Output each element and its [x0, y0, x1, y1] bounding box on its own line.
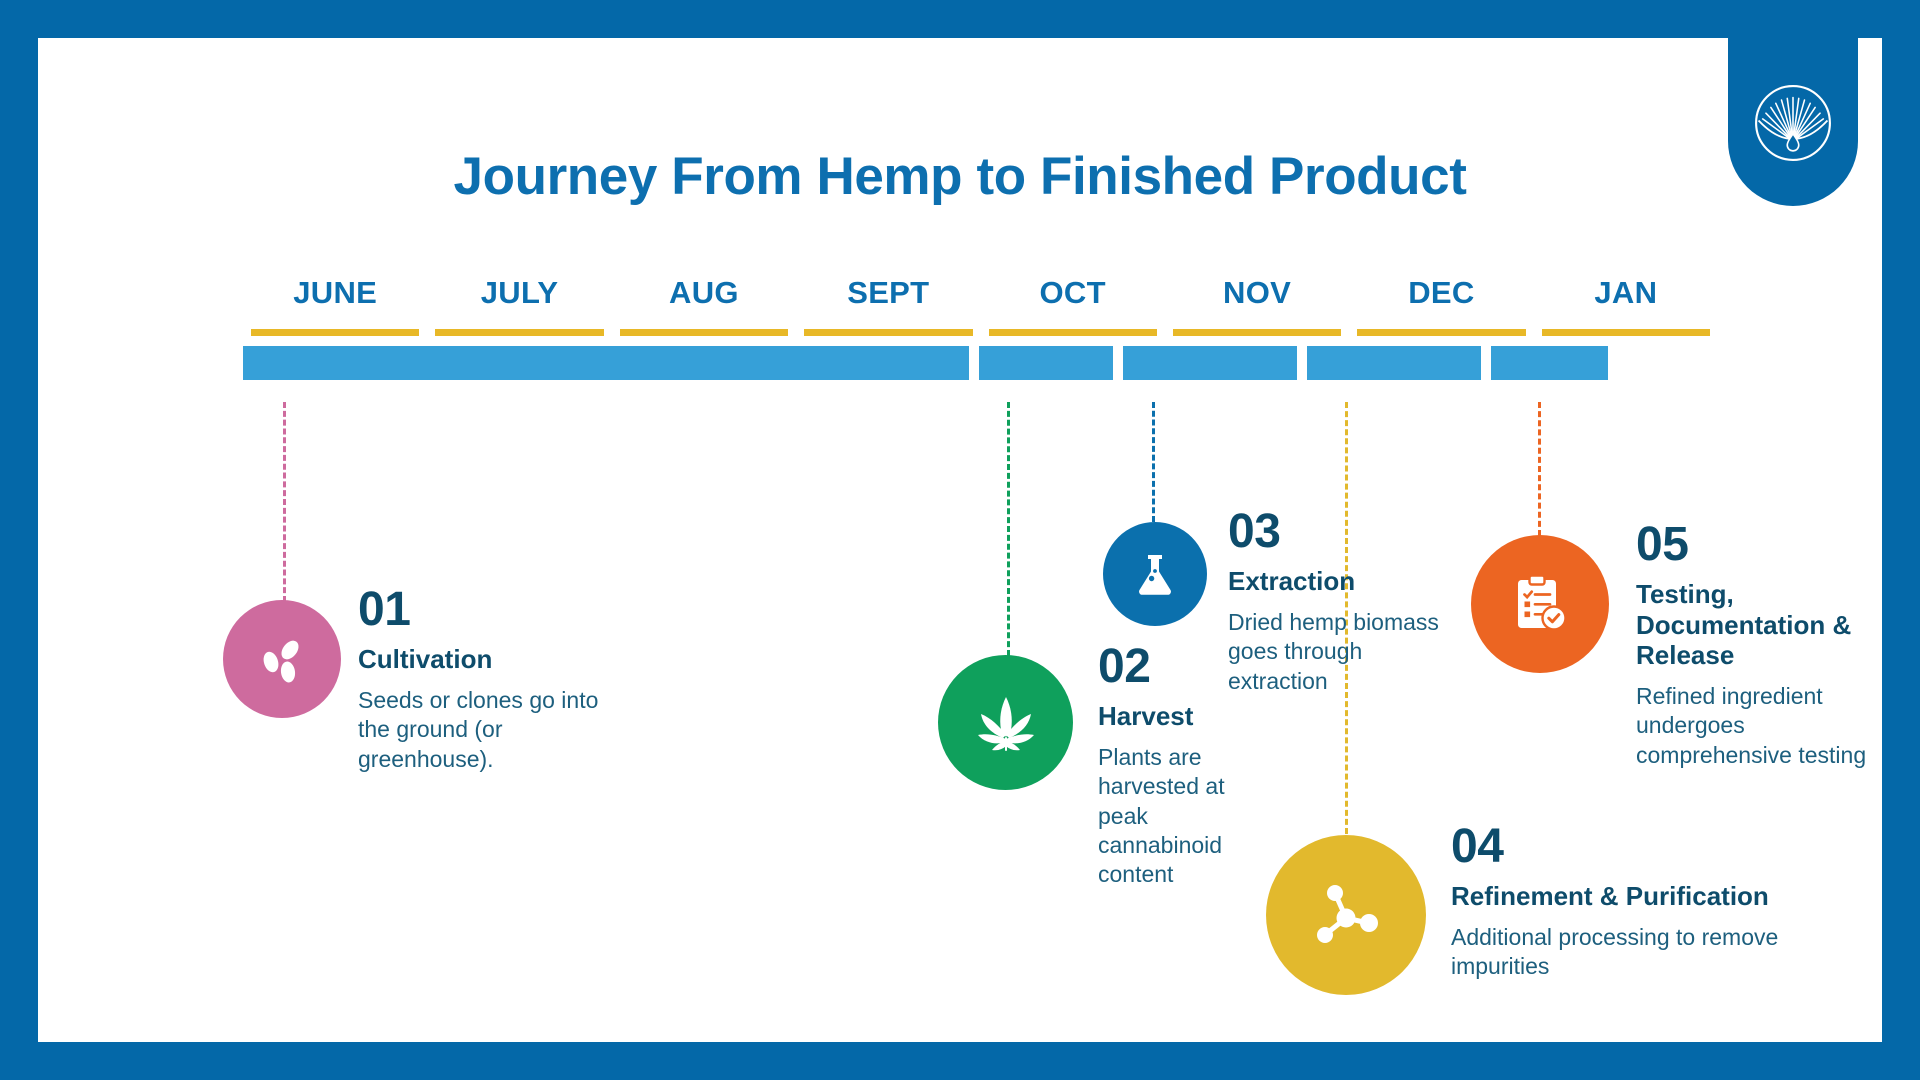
milestone-03-text: 03 Extraction Dried hemp biomass goes th… — [1228, 508, 1450, 696]
timeline-month-june: JUNE — [243, 268, 427, 346]
page-title: Journey From Hemp to Finished Product — [38, 146, 1882, 207]
timeline-month-row: JUNE JULY AUG SEPT OCT — [243, 268, 1718, 346]
milestone-03-description: Dried hemp biomass goes through extracti… — [1228, 608, 1450, 696]
timeline-month-jan: JAN — [1534, 268, 1718, 346]
connector-line-01 — [283, 402, 286, 602]
milestone-04-title: Refinement & Purification — [1451, 881, 1851, 912]
milestone-01-text: 01 Cultivation Seeds or clones go into t… — [358, 586, 618, 774]
milestone-01-title: Cultivation — [358, 644, 618, 675]
timeline-bar-segment-jan — [1491, 346, 1608, 380]
timeline-bar-row — [243, 346, 1718, 380]
connector-line-05 — [1538, 402, 1541, 536]
milestone-02-bubble[interactable] — [938, 655, 1073, 790]
cannabis-leaf-icon — [968, 685, 1044, 761]
milestone-02-title: Harvest — [1098, 701, 1268, 732]
molecule-icon — [1302, 871, 1390, 959]
month-rule — [989, 329, 1157, 336]
brand-logo-tab — [1728, 38, 1858, 206]
month-label: JULY — [427, 268, 611, 318]
timeline-bar-segment-june-sept — [243, 346, 969, 380]
milestone-05-number: 05 — [1636, 521, 1876, 569]
milestone-03-bubble[interactable] — [1103, 522, 1207, 626]
month-rule — [251, 329, 419, 336]
month-rule — [1173, 329, 1341, 336]
milestone-05-bubble[interactable] — [1471, 535, 1609, 673]
month-rule — [435, 329, 603, 336]
timeline-month-aug: AUG — [612, 268, 796, 346]
milestone-05-description: Refined ingredient undergoes comprehensi… — [1636, 682, 1876, 770]
infographic-canvas: Journey From Hemp to Finished Product JU… — [38, 38, 1882, 1042]
seeds-icon — [252, 629, 312, 689]
timeline-bar-segment-dec — [1307, 346, 1481, 380]
timeline-month-july: JULY — [427, 268, 611, 346]
milestone-03-number: 03 — [1228, 508, 1450, 556]
milestone-02-description: Plants are harvested at peak cannabinoid… — [1098, 743, 1268, 890]
milestone-04-bubble[interactable] — [1266, 835, 1426, 995]
milestone-04-number: 04 — [1451, 823, 1851, 871]
timeline-bar-segment-nov — [1123, 346, 1297, 380]
milestone-01-number: 01 — [358, 586, 618, 634]
month-label: NOV — [1165, 268, 1349, 318]
month-rule — [1357, 329, 1525, 336]
month-label: JUNE — [243, 268, 427, 318]
milestone-01-description: Seeds or clones go into the ground (or g… — [358, 686, 618, 774]
timeline-bar-segment-oct — [979, 346, 1113, 380]
timeline-month-oct: OCT — [981, 268, 1165, 346]
month-label: DEC — [1349, 268, 1533, 318]
timeline-month-dec: DEC — [1349, 268, 1533, 346]
flask-icon — [1128, 547, 1182, 601]
connector-line-03 — [1152, 402, 1155, 522]
milestone-05-text: 05 Testing, Documentation & Release Refi… — [1636, 521, 1876, 770]
month-rule — [1542, 329, 1710, 336]
milestone-01-bubble[interactable] — [223, 600, 341, 718]
milestone-03-title: Extraction — [1228, 566, 1450, 597]
month-label: OCT — [981, 268, 1165, 318]
connector-line-02 — [1007, 402, 1010, 656]
timeline: JUNE JULY AUG SEPT OCT — [243, 268, 1718, 398]
timeline-month-nov: NOV — [1165, 268, 1349, 346]
clipboard-check-icon — [1505, 569, 1575, 639]
month-rule — [804, 329, 972, 336]
month-label: JAN — [1534, 268, 1718, 318]
month-rule — [620, 329, 788, 336]
infographic-root: Journey From Hemp to Finished Product JU… — [0, 0, 1920, 1080]
milestone-05-title: Testing, Documentation & Release — [1636, 579, 1876, 671]
month-label: SEPT — [796, 268, 980, 318]
timeline-month-sept: SEPT — [796, 268, 980, 346]
sunburst-droplet-logo-icon — [1752, 82, 1834, 164]
milestone-04-description: Additional processing to remove impuriti… — [1451, 923, 1851, 982]
milestone-04-text: 04 Refinement & Purification Additional … — [1451, 823, 1851, 982]
month-label: AUG — [612, 268, 796, 318]
